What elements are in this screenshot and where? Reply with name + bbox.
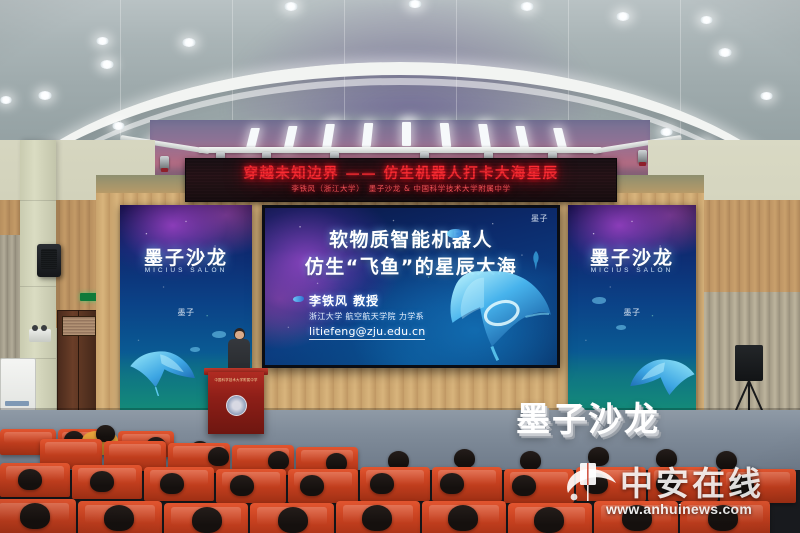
ceiling-downlight <box>760 92 773 100</box>
wall-projector-mount <box>29 329 51 342</box>
led-banner-headline: 穿越未知边界 —— 仿生机器人打卡大海星辰 <box>186 162 616 183</box>
audience-head <box>584 473 608 494</box>
slide-title-line1: 软物质智能机器人 <box>265 225 557 252</box>
audience-head <box>300 475 324 496</box>
ceiling-downlight <box>718 48 732 57</box>
banner-left-manta-ray-icon <box>122 344 198 396</box>
slide-title-fish-icon <box>447 229 463 238</box>
audience-head <box>104 505 134 531</box>
ceiling-downlight <box>96 37 109 45</box>
ceiling-downlight <box>100 60 114 69</box>
projection-screen: 墨子 软物质智能机器人 仿生“飞鱼”的星辰大海 李铁风 教授 浙江大学 航空航天… <box>262 205 560 368</box>
audience-head <box>18 469 42 490</box>
slide-email: litiefeng@zju.edu.cn <box>309 325 425 340</box>
ceiling-downlight <box>408 0 422 8</box>
banner-right-fish-icon <box>616 325 626 330</box>
audience-head <box>160 473 184 494</box>
school-emblem <box>226 395 247 416</box>
ceiling-downlight <box>616 12 630 21</box>
wall-mounted-speaker <box>37 244 61 277</box>
slide-speaker-fish-icon <box>293 296 304 302</box>
speaker-face <box>235 331 244 339</box>
audience-head <box>230 475 254 496</box>
stage-light-panel <box>402 122 411 146</box>
led-banner-subline: 李铁风（浙江大学） 墨子沙龙 & 中国科学技术大学附属中学 <box>186 183 616 194</box>
audience-head <box>588 447 609 466</box>
audience-head <box>362 505 392 531</box>
photo-scene: 穿越未知边界 —— 仿生机器人打卡大海星辰 李铁风（浙江大学） 墨子沙龙 & 中… <box>0 0 800 533</box>
audience-head <box>512 475 536 496</box>
audience-head <box>656 449 677 468</box>
audience-head <box>192 507 222 533</box>
ceiling-downlight <box>38 91 52 100</box>
audience-head <box>278 507 308 533</box>
stage-par-light <box>638 150 647 163</box>
audience-head <box>534 507 564 533</box>
banner-right-title: 墨子沙龙 <box>568 243 696 270</box>
stage-par-light <box>160 156 169 169</box>
ceiling-downlight <box>660 128 673 136</box>
slide-logo: 墨子 <box>531 213 548 224</box>
audience-head <box>656 473 680 494</box>
audience-head <box>208 447 229 466</box>
banner-left-logo: 墨子 <box>120 307 252 318</box>
banner-left-subtitle: MICIUS SALON <box>120 267 252 274</box>
banner-right-subtitle: MICIUS SALON <box>568 267 696 274</box>
slide-speaker-name: 李铁风 教授 <box>309 292 379 309</box>
audience-head <box>730 475 754 496</box>
audience-head <box>622 505 652 531</box>
audience-area <box>0 425 800 533</box>
ceiling-downlight <box>284 2 298 11</box>
ceiling-downlight <box>0 96 12 104</box>
door-window <box>62 316 96 336</box>
banner-right: 墨子沙龙 MICIUS SALON 墨子 <box>568 205 696 410</box>
banner-right-logo: 墨子 <box>568 307 696 318</box>
banner-left-title: 墨子沙龙 <box>120 243 252 270</box>
ceiling-downlight <box>182 38 196 47</box>
ceiling-downlight <box>700 16 713 24</box>
slide-affiliation: 浙江大学 航空航天学院 力学系 <box>309 311 424 322</box>
banner-right-fish-icon <box>592 297 606 304</box>
audience-head <box>20 503 50 529</box>
audience-head <box>716 451 737 470</box>
audience-head <box>520 451 541 470</box>
audience-head <box>90 471 114 492</box>
ceiling-downlight <box>112 122 125 130</box>
lighting-truss <box>198 147 602 153</box>
presentation-slide: 墨子 软物质智能机器人 仿生“飞鱼”的星辰大海 李铁风 教授 浙江大学 航空航天… <box>265 208 557 365</box>
audience-head <box>708 505 738 531</box>
audience-head <box>454 449 475 468</box>
audience-head <box>370 473 394 494</box>
audience-head <box>448 505 478 531</box>
audience-head <box>440 473 464 494</box>
audience-head <box>268 451 289 470</box>
banner-left-fish-icon <box>212 331 226 338</box>
led-banner: 穿越未知边界 —— 仿生机器人打卡大海星辰 李铁风（浙江大学） 墨子沙龙 & 中… <box>185 158 617 202</box>
ceiling-downlight <box>520 2 534 11</box>
slide-manta-ray-icon <box>423 267 551 363</box>
floor-speaker <box>735 345 763 381</box>
podium-nameplate: 中国科学技术大学附属中学 <box>208 377 264 382</box>
